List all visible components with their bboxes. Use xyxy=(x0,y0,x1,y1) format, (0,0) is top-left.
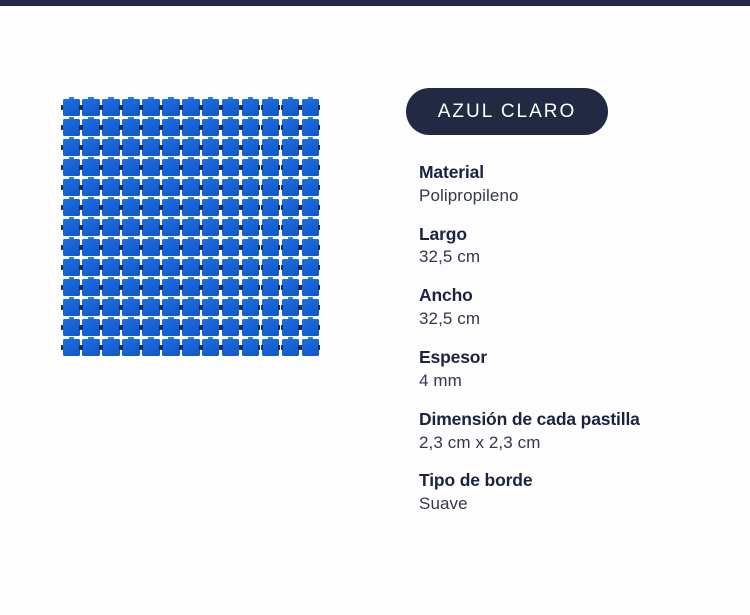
tile-pastilla xyxy=(221,238,241,258)
tile-pastilla xyxy=(142,138,162,158)
tile-pastilla xyxy=(122,278,142,298)
tile-row xyxy=(62,298,321,318)
tile-pastilla xyxy=(182,278,202,298)
tile-pastilla xyxy=(241,98,261,118)
tile-pastilla xyxy=(142,298,162,318)
tile-pastilla xyxy=(82,278,102,298)
tile-pastilla xyxy=(122,118,142,138)
tile-pastilla xyxy=(62,298,82,318)
tile-pastilla xyxy=(241,158,261,178)
tile-pastilla xyxy=(281,198,301,218)
tile-pastilla xyxy=(162,318,182,338)
spec-item: Espesor4 mm xyxy=(419,346,726,393)
tile-pastilla xyxy=(122,338,142,358)
tile-pastilla xyxy=(182,158,202,178)
tile-pastilla xyxy=(122,158,142,178)
spec-value: Suave xyxy=(419,493,726,516)
tile-pastilla xyxy=(102,158,122,178)
tile-pastilla xyxy=(241,238,261,258)
tile-pastilla xyxy=(82,158,102,178)
tile-row xyxy=(62,158,321,178)
spec-label: Ancho xyxy=(419,284,726,307)
tile-pastilla xyxy=(301,158,321,178)
tile-pastilla xyxy=(102,138,122,158)
tile-pastilla xyxy=(221,158,241,178)
spec-item: MaterialPolipropileno xyxy=(419,161,726,208)
tile-pastilla xyxy=(261,318,281,338)
tile-pastilla xyxy=(261,258,281,278)
tile-pastilla xyxy=(241,118,261,138)
tile-pastilla xyxy=(102,178,122,198)
tile-pastilla xyxy=(261,158,281,178)
tile-pastilla xyxy=(281,118,301,138)
tile-pastilla xyxy=(201,238,221,258)
tile-pastilla xyxy=(241,178,261,198)
tile-pastilla xyxy=(201,318,221,338)
tile-pastilla xyxy=(301,318,321,338)
tile-pastilla xyxy=(122,138,142,158)
tile-pastilla xyxy=(301,218,321,238)
tile-pastilla xyxy=(142,238,162,258)
tile-pastilla xyxy=(301,118,321,138)
tile-pastilla xyxy=(122,258,142,278)
tile-pastilla xyxy=(182,258,202,278)
tile-pastilla xyxy=(241,138,261,158)
tile-pastilla xyxy=(281,238,301,258)
tile-pastilla xyxy=(201,258,221,278)
color-variant-badge: AZUL CLARO xyxy=(406,88,608,135)
tile-pastilla xyxy=(261,198,281,218)
tile-pastilla xyxy=(301,138,321,158)
tile-pastilla xyxy=(261,278,281,298)
tile-pastilla xyxy=(82,118,102,138)
spec-label: Dimensión de cada pastilla xyxy=(419,408,726,431)
tile-pastilla xyxy=(241,258,261,278)
tile-pastilla xyxy=(201,298,221,318)
tile-pastilla xyxy=(62,258,82,278)
tile-pastilla xyxy=(102,98,122,118)
tile-pastilla xyxy=(82,98,102,118)
tile-pastilla xyxy=(142,178,162,198)
tile-pastilla xyxy=(62,138,82,158)
specification-list: MaterialPolipropilenoLargo32,5 cmAncho32… xyxy=(419,161,726,516)
tile-pastilla xyxy=(281,298,301,318)
tile-pastilla xyxy=(102,338,122,358)
tile-pastilla xyxy=(162,238,182,258)
tile-pastilla xyxy=(281,318,301,338)
tile-row xyxy=(62,98,321,118)
tile-pastilla xyxy=(221,198,241,218)
tile-pastilla xyxy=(82,198,102,218)
tile-pastilla xyxy=(261,338,281,358)
product-spec-card: AZUL CLARO MaterialPolipropilenoLargo32,… xyxy=(0,6,750,615)
tile-pastilla xyxy=(142,218,162,238)
tile-pastilla xyxy=(142,198,162,218)
tile-pastilla xyxy=(122,98,142,118)
tile-pastilla xyxy=(62,338,82,358)
tile-pastilla xyxy=(241,278,261,298)
tile-pastilla xyxy=(62,318,82,338)
tile-pastilla xyxy=(102,318,122,338)
tile-pastilla xyxy=(301,278,321,298)
tile-pastilla xyxy=(82,178,102,198)
tile-pastilla xyxy=(122,178,142,198)
tile-pastilla xyxy=(162,178,182,198)
tile-pastilla xyxy=(201,338,221,358)
tile-pastilla xyxy=(281,178,301,198)
tile-row xyxy=(62,238,321,258)
tile-pastilla xyxy=(201,278,221,298)
tile-pastilla xyxy=(162,98,182,118)
tile-pastilla xyxy=(281,278,301,298)
tile-pastilla xyxy=(162,158,182,178)
tile-pastilla xyxy=(122,298,142,318)
tile-pastilla xyxy=(182,218,202,238)
tile-pastilla xyxy=(301,338,321,358)
tile-pastilla xyxy=(182,118,202,138)
tile-pastilla xyxy=(142,318,162,338)
tile-pastilla xyxy=(221,338,241,358)
tile-pastilla xyxy=(162,278,182,298)
spec-label: Tipo de borde xyxy=(419,469,726,492)
tile-pastilla xyxy=(201,178,221,198)
tile-pastilla xyxy=(221,258,241,278)
tile-pastilla xyxy=(182,298,202,318)
tile-pastilla xyxy=(182,198,202,218)
tile-pastilla xyxy=(261,118,281,138)
spec-label: Largo xyxy=(419,223,726,246)
tile-pastilla xyxy=(122,218,142,238)
tile-pastilla xyxy=(221,138,241,158)
tile-pastilla xyxy=(221,218,241,238)
tile-pastilla xyxy=(221,278,241,298)
tile-pastilla xyxy=(281,338,301,358)
tile-pastilla xyxy=(82,338,102,358)
tile-pastilla xyxy=(221,298,241,318)
tile-pastilla xyxy=(301,258,321,278)
spec-item: Dimensión de cada pastilla2,3 cm x 2,3 c… xyxy=(419,408,726,455)
tile-row xyxy=(62,118,321,138)
tile-pastilla xyxy=(201,98,221,118)
tile-pastilla xyxy=(182,318,202,338)
tile-pastilla xyxy=(182,238,202,258)
tile-pastilla xyxy=(241,198,261,218)
tile-row xyxy=(62,318,321,338)
tile-pastilla xyxy=(122,238,142,258)
tile-pastilla xyxy=(261,238,281,258)
tile-pastilla xyxy=(162,338,182,358)
tile-pastilla xyxy=(142,278,162,298)
spec-label: Espesor xyxy=(419,346,726,369)
tile-pastilla xyxy=(241,338,261,358)
tile-pastilla xyxy=(62,98,82,118)
tile-row xyxy=(62,258,321,278)
tile-pastilla xyxy=(62,198,82,218)
tile-pastilla xyxy=(182,138,202,158)
tile-pastilla xyxy=(122,198,142,218)
tile-pastilla xyxy=(201,198,221,218)
tile-pastilla xyxy=(82,218,102,238)
spec-value: Polipropileno xyxy=(419,185,726,208)
tile-pastilla xyxy=(221,98,241,118)
tile-pastilla xyxy=(261,178,281,198)
spec-label: Material xyxy=(419,161,726,184)
tile-pastilla xyxy=(82,258,102,278)
tile-pastilla xyxy=(201,158,221,178)
tile-pastilla xyxy=(241,298,261,318)
tile-pastilla xyxy=(162,258,182,278)
product-details: AZUL CLARO MaterialPolipropilenoLargo32,… xyxy=(406,88,726,516)
spec-value: 2,3 cm x 2,3 cm xyxy=(419,432,726,455)
tile-pastilla xyxy=(281,218,301,238)
tile-pastilla xyxy=(82,238,102,258)
tile-pastilla xyxy=(261,298,281,318)
tile-pastilla xyxy=(261,98,281,118)
tile-pastilla xyxy=(162,298,182,318)
tile-pastilla xyxy=(102,278,122,298)
tile-pastilla xyxy=(82,138,102,158)
tile-pastilla xyxy=(102,218,122,238)
tile-pastilla xyxy=(62,158,82,178)
spec-value: 4 mm xyxy=(419,370,726,393)
tile-pastilla xyxy=(201,118,221,138)
tile-row xyxy=(62,278,321,298)
tile-pastilla xyxy=(62,118,82,138)
tile-pastilla xyxy=(162,218,182,238)
tile-pastilla xyxy=(182,178,202,198)
tile-pastilla xyxy=(62,178,82,198)
tile-pastilla xyxy=(102,258,122,278)
tile-pastilla xyxy=(162,138,182,158)
tile-pastilla xyxy=(301,298,321,318)
spec-item: Tipo de bordeSuave xyxy=(419,469,726,516)
tile-row xyxy=(62,218,321,238)
tile-mat-graphic xyxy=(62,98,321,358)
tile-row xyxy=(62,338,321,358)
spec-item: Largo32,5 cm xyxy=(419,223,726,270)
tile-pastilla xyxy=(62,218,82,238)
tile-pastilla xyxy=(102,298,122,318)
tile-row xyxy=(62,198,321,218)
tile-pastilla xyxy=(82,318,102,338)
tile-pastilla xyxy=(162,198,182,218)
tile-pastilla xyxy=(182,98,202,118)
tile-pastilla xyxy=(62,278,82,298)
tile-pastilla xyxy=(281,258,301,278)
tile-pastilla xyxy=(261,218,281,238)
tile-pastilla xyxy=(102,238,122,258)
tile-pastilla xyxy=(142,338,162,358)
tile-row xyxy=(62,178,321,198)
tile-pastilla xyxy=(301,98,321,118)
tile-pastilla xyxy=(221,178,241,198)
tile-pastilla xyxy=(221,318,241,338)
tile-pastilla xyxy=(301,238,321,258)
tile-pastilla xyxy=(221,118,241,138)
tile-pastilla xyxy=(142,158,162,178)
tile-pastilla xyxy=(301,198,321,218)
tile-pastilla xyxy=(301,178,321,198)
tile-pastilla xyxy=(201,138,221,158)
tile-pastilla xyxy=(241,218,261,238)
tile-pastilla xyxy=(281,98,301,118)
tile-pastilla xyxy=(241,318,261,338)
tile-pastilla xyxy=(142,98,162,118)
tile-pastilla xyxy=(281,138,301,158)
tile-pastilla xyxy=(142,118,162,138)
tile-pastilla xyxy=(182,338,202,358)
spec-value: 32,5 cm xyxy=(419,308,726,331)
tile-pastilla xyxy=(142,258,162,278)
spec-item: Ancho32,5 cm xyxy=(419,284,726,331)
tile-row xyxy=(62,138,321,158)
tile-pastilla xyxy=(261,138,281,158)
tile-pastilla xyxy=(62,238,82,258)
tile-pastilla xyxy=(102,118,122,138)
tile-pastilla xyxy=(281,158,301,178)
tile-pastilla xyxy=(82,298,102,318)
spec-value: 32,5 cm xyxy=(419,246,726,269)
tile-pastilla xyxy=(122,318,142,338)
tile-pastilla xyxy=(201,218,221,238)
product-image xyxy=(62,98,321,358)
tile-pastilla xyxy=(162,118,182,138)
tile-pastilla xyxy=(102,198,122,218)
